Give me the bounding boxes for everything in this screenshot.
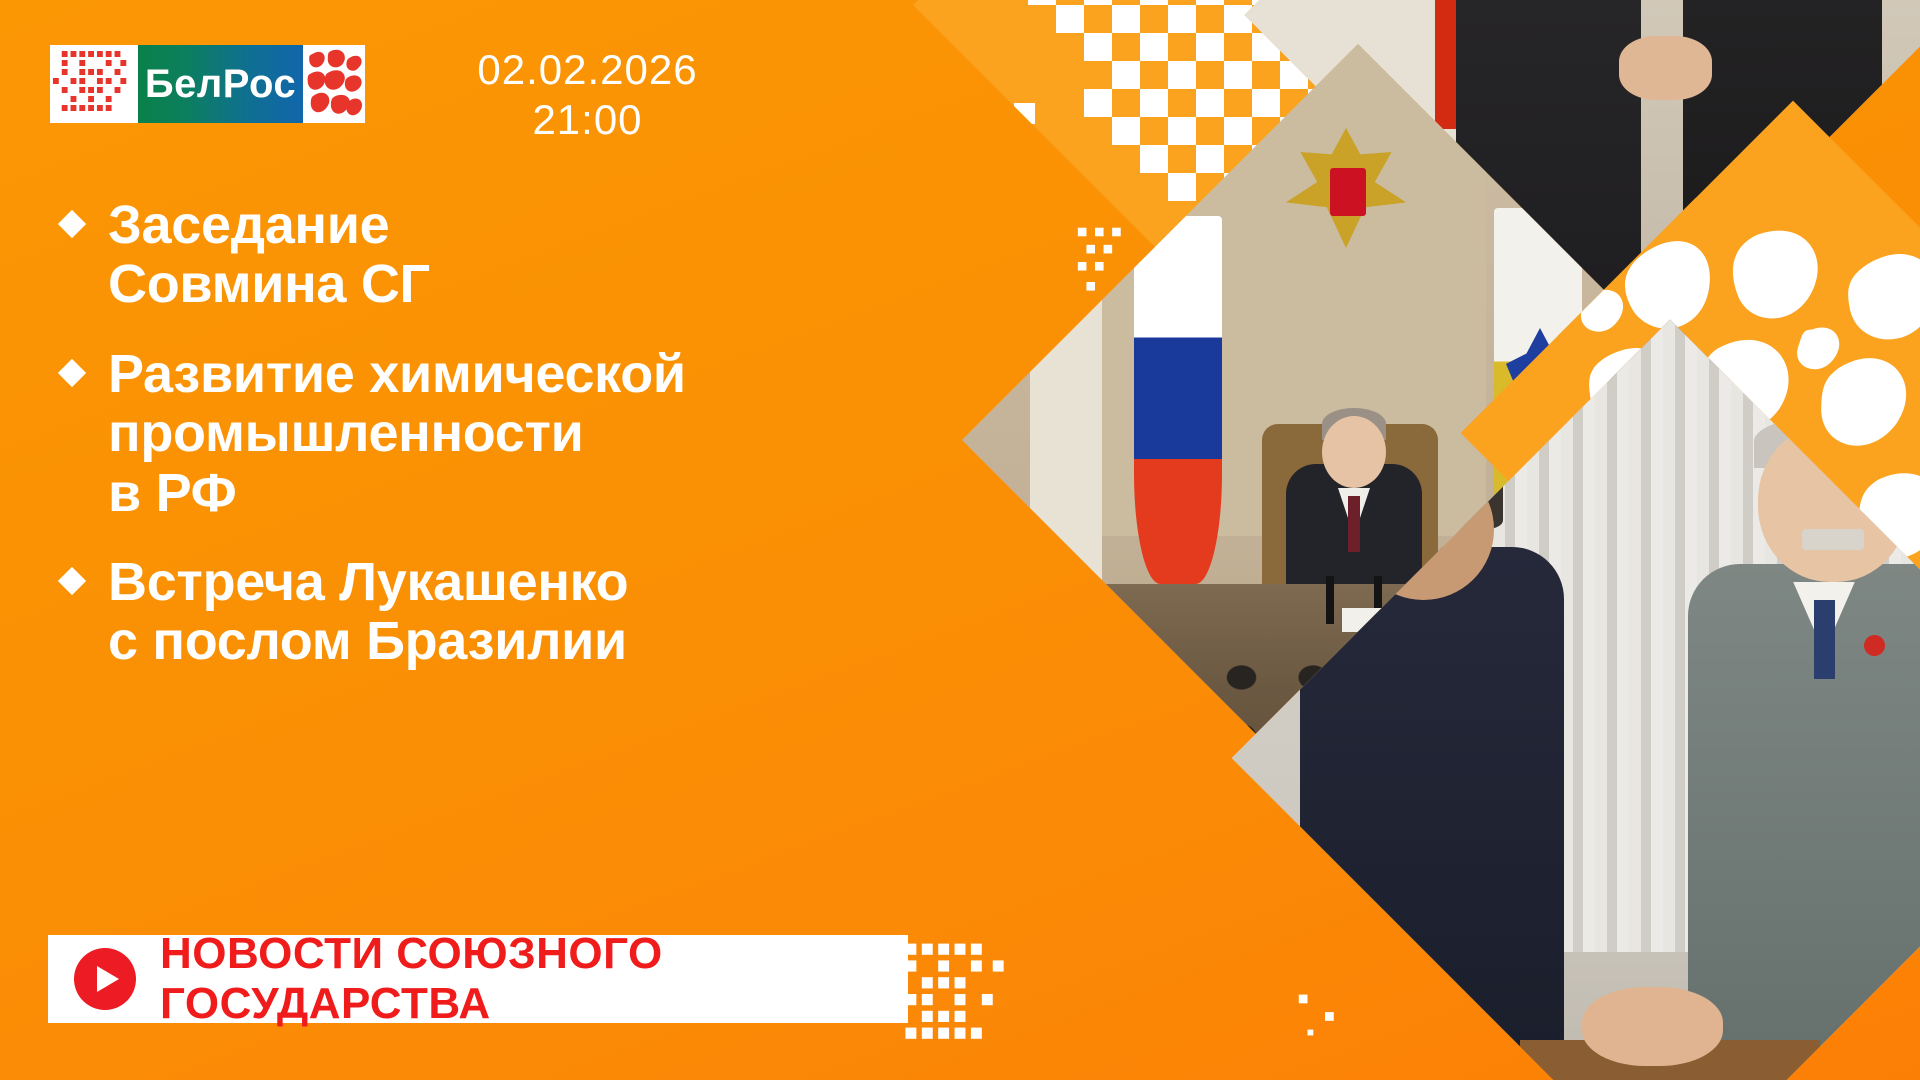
headline-item[interactable]: Встреча Лукашенко с послом Бразилии (48, 553, 948, 672)
headline-item[interactable]: Развитие химической промышленности в РФ (48, 345, 948, 523)
news-bar-label: НОВОСТИ СОЮЗНОГО ГОСУДАРСТВА (160, 929, 908, 1029)
news-bar[interactable]: НОВОСТИ СОЮЗНОГО ГОСУДАРСТВА (48, 935, 908, 1023)
logo-text: БелРос (145, 62, 296, 107)
headline-text: Заседание Совмина СГ (108, 196, 430, 315)
belarusian-cross-stitch-icon-small (900, 938, 1020, 1050)
headline-list: Заседание Совмина СГ Развитие химической… (48, 196, 948, 702)
headline-text: Встреча Лукашенко с послом Бразилии (108, 553, 628, 672)
headline-item[interactable]: Заседание Совмина СГ (48, 196, 948, 315)
logo-wordmark: БелРос (138, 45, 303, 123)
content-column: БелРос (0, 0, 960, 1080)
promo-banner: БелРос (0, 0, 1920, 1080)
diamond-bullet-icon (58, 359, 86, 387)
diamond-bullet-icon (58, 567, 86, 595)
khokhloma-flower-icon (303, 45, 365, 123)
air-date: 02.02.2026 (455, 45, 720, 95)
belarusian-cross-stitch-icon (50, 45, 138, 123)
photo-mosaic (960, 0, 1920, 1080)
air-time: 21:00 (455, 95, 720, 145)
play-button-icon[interactable] (74, 948, 136, 1010)
air-datetime: 02.02.2026 21:00 (455, 45, 720, 144)
headline-text: Развитие химической промышленности в РФ (108, 345, 686, 523)
sparkle-dots-decoration-lower (1290, 985, 1360, 1045)
belros-logo[interactable]: БелРос (50, 45, 365, 123)
diamond-bullet-icon (58, 210, 86, 238)
